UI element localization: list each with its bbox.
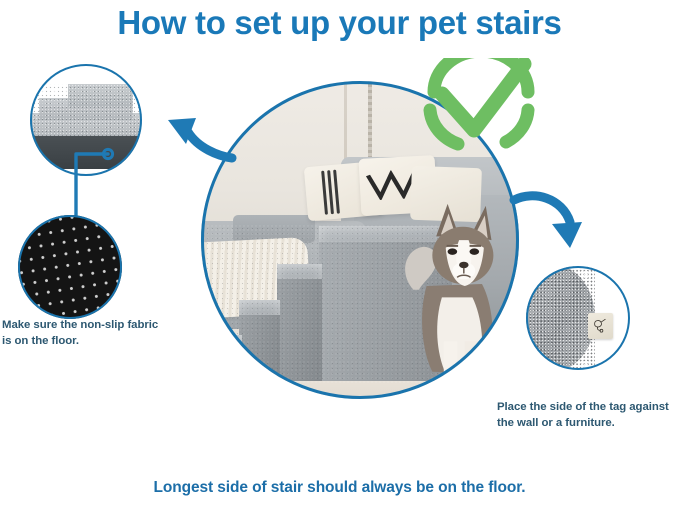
callout-connector-line <box>60 128 120 223</box>
stairs-fabric-side <box>526 266 595 370</box>
husky-dog <box>398 195 512 392</box>
inset-non-slip-fabric <box>18 215 122 319</box>
caption-tag-placement: Place the side of the tag against the wa… <box>497 400 679 431</box>
infographic-canvas: How to set up your pet stairs <box>0 0 679 507</box>
caption-line-1: Make sure the non-slip fabric <box>2 318 192 334</box>
inset-tag-side <box>526 266 630 370</box>
caption-non-slip-fabric: Make sure the non-slip fabric is on the … <box>2 318 192 349</box>
curved-arrow-down-right-icon <box>508 182 596 250</box>
non-slip-dot-pattern <box>18 215 122 319</box>
caption-line-1: Place the side of the tag against <box>497 400 679 416</box>
caption-line-2: is on the floor. <box>2 334 192 350</box>
footer-note: Longest side of stair should always be o… <box>0 478 679 498</box>
brand-tag-logo-icon <box>591 316 610 335</box>
page-title: How to set up your pet stairs <box>0 2 679 44</box>
caption-line-2: the wall or a furniture. <box>497 416 679 432</box>
curved-arrow-left-icon <box>162 106 238 164</box>
green-check-icon <box>420 58 542 152</box>
brand-tag <box>588 313 613 339</box>
